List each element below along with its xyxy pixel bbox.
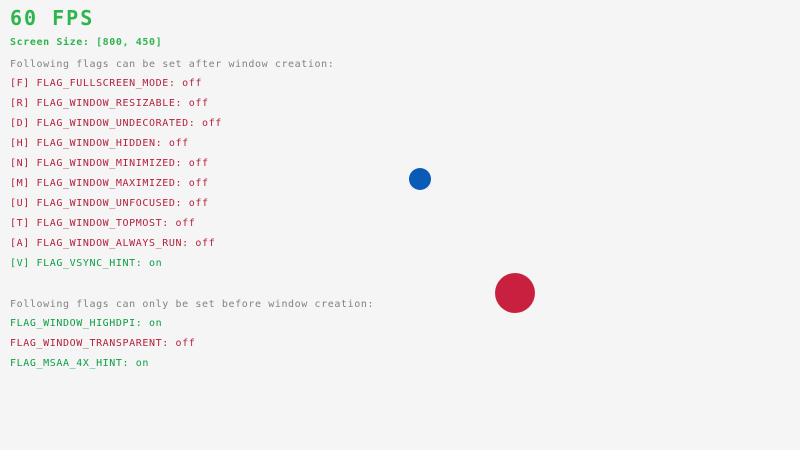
flag-row[interactable]: [V] FLAG_VSYNC_HINT: on [10,259,162,269]
flag-row[interactable]: [D] FLAG_WINDOW_UNDECORATED: off [10,119,222,129]
flag-state-value: on [142,318,162,329]
flag-row[interactable]: [U] FLAG_WINDOW_UNFOCUSED: off [10,199,209,209]
flag-state-value: on [129,358,149,369]
flag-row[interactable]: FLAG_WINDOW_HIGHDPI: on [10,319,162,329]
flag-name: [A] FLAG_WINDOW_ALWAYS_RUN: [10,238,189,249]
section-header-after-creation: Following flags can be set after window … [10,60,334,70]
flag-state-value: off [162,138,188,149]
flag-row[interactable]: FLAG_WINDOW_TRANSPARENT: off [10,339,195,349]
flag-name: [D] FLAG_WINDOW_UNDECORATED: [10,118,195,129]
app-window: 60 FPS Screen Size: [800, 450] Following… [0,0,800,450]
flag-state-value: off [169,218,195,229]
flag-state-value: off [176,78,202,89]
screen-size-label: Screen Size: [800, 450] [10,38,162,48]
flag-row[interactable]: [R] FLAG_WINDOW_RESIZABLE: off [10,99,209,109]
flag-state-value: on [142,258,162,269]
flag-row[interactable]: [T] FLAG_WINDOW_TOPMOST: off [10,219,195,229]
red-circle [495,273,535,313]
flag-row[interactable]: [A] FLAG_WINDOW_ALWAYS_RUN: off [10,239,215,249]
blue-circle [409,168,431,190]
flag-name: [T] FLAG_WINDOW_TOPMOST: [10,218,169,229]
section-header-before-creation: Following flags can only be set before w… [10,300,374,310]
fps-counter: 60 FPS [10,8,94,28]
flag-name: [F] FLAG_FULLSCREEN_MODE: [10,78,176,89]
flag-state-value: off [182,198,208,209]
flag-state-value: off [169,338,195,349]
flag-name: [N] FLAG_WINDOW_MINIMIZED: [10,158,182,169]
flag-row[interactable]: [H] FLAG_WINDOW_HIDDEN: off [10,139,189,149]
flag-name: [U] FLAG_WINDOW_UNFOCUSED: [10,198,182,209]
flag-name: [R] FLAG_WINDOW_RESIZABLE: [10,98,182,109]
flag-name: FLAG_MSAA_4X_HINT: [10,358,129,369]
flag-state-value: off [189,238,215,249]
flag-row[interactable]: FLAG_MSAA_4X_HINT: on [10,359,149,369]
flag-name: FLAG_WINDOW_HIGHDPI: [10,318,142,329]
flag-name: FLAG_WINDOW_TRANSPARENT: [10,338,169,349]
flag-state-value: off [182,178,208,189]
flag-name: [H] FLAG_WINDOW_HIDDEN: [10,138,162,149]
flag-row[interactable]: [M] FLAG_WINDOW_MAXIMIZED: off [10,179,209,189]
flag-state-value: off [195,118,221,129]
flag-row[interactable]: [F] FLAG_FULLSCREEN_MODE: off [10,79,202,89]
flag-name: [M] FLAG_WINDOW_MAXIMIZED: [10,178,182,189]
flag-row[interactable]: [N] FLAG_WINDOW_MINIMIZED: off [10,159,209,169]
flag-state-value: off [182,98,208,109]
flag-name: [V] FLAG_VSYNC_HINT: [10,258,142,269]
flag-state-value: off [182,158,208,169]
